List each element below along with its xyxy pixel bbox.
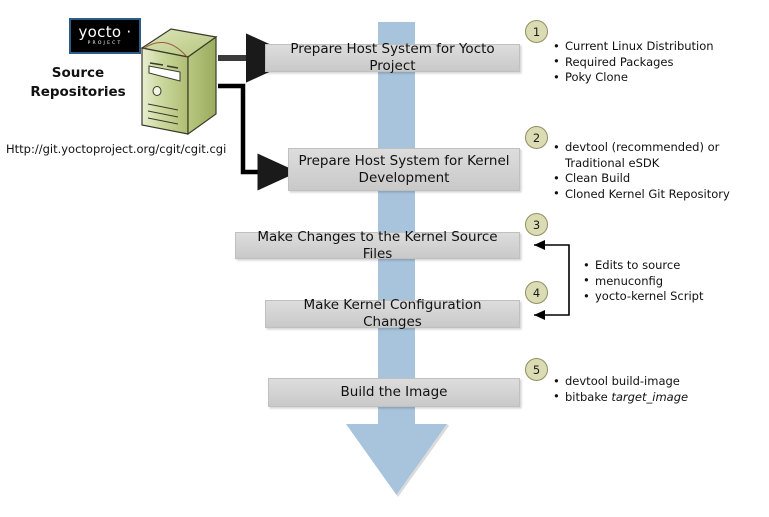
- box-prepare-host-system-kernel[interactable]: Prepare Host System for Kernel Developme…: [288, 148, 520, 191]
- connector-arrowhead-box4: [534, 310, 545, 320]
- yocto-logo-subtext: PROJECT: [88, 42, 123, 47]
- source-repositories-label: Source Repositories: [14, 64, 142, 102]
- source-label-line1: Source: [52, 65, 104, 81]
- note-item: Clean Build: [553, 171, 730, 187]
- notes-step-3-and-4: Edits to source menuconfig yocto-kernel …: [583, 258, 704, 305]
- step-number: 3: [533, 218, 540, 232]
- source-repository-url: Http://git.yoctoproject.org/cgit/cgit.cg…: [6, 142, 226, 156]
- note-item: Edits to source: [583, 258, 704, 274]
- box-label: Make Kernel Configuration Changes: [272, 297, 513, 331]
- flow-band-arrowhead: [346, 424, 447, 495]
- note-item: Current Linux Distribution: [553, 39, 714, 55]
- note-text: Current Linux Distribution: [565, 39, 714, 53]
- connector-notes-to-box3-box4: [534, 245, 569, 315]
- note-text-prefix: bitbake: [565, 390, 611, 404]
- note-text: Cloned Kernel Git Repository: [565, 187, 730, 201]
- connector-server-to-box2: [218, 86, 262, 172]
- note-item: devtool build-image: [553, 374, 688, 390]
- source-label-line2: Repositories: [30, 84, 125, 100]
- note-item: devtool (recommended) or Traditional eSD…: [553, 140, 730, 171]
- flow-band-arrowhead-shadow: [397, 424, 450, 497]
- box-label-multiline: Prepare Host System for Kernel Developme…: [298, 153, 509, 187]
- notes-step-2: devtool (recommended) or Traditional eSD…: [553, 140, 730, 202]
- note-item: bitbake target_image: [553, 390, 688, 406]
- step-badge-3: 3: [525, 213, 548, 236]
- box-make-changes-kernel-source[interactable]: Make Changes to the Kernel Source Files: [235, 232, 520, 259]
- note-text: Clean Build: [565, 171, 630, 185]
- box-label-line2: Development: [359, 170, 450, 186]
- yocto-project-logo: yocto · PROJECT: [69, 18, 141, 54]
- note-item: yocto-kernel Script: [583, 289, 704, 305]
- note-text-italic: target_image: [611, 390, 688, 404]
- note-text: devtool build-image: [565, 374, 680, 388]
- yocto-logo-wordmark: yocto ·: [79, 25, 132, 40]
- connector-arrowhead-box3: [534, 240, 545, 250]
- box-prepare-host-system-yocto[interactable]: Prepare Host System for Yocto Project: [265, 44, 520, 72]
- yocto-kernel-workflow-diagram: yocto · PROJECT Source Repositories Http…: [0, 0, 769, 517]
- step-badge-4: 4: [525, 281, 548, 304]
- note-text: menuconfig: [595, 274, 663, 288]
- box-label: Make Changes to the Kernel Source Files: [242, 229, 513, 263]
- flow-band-spine: [378, 22, 415, 425]
- box-make-kernel-configuration-changes[interactable]: Make Kernel Configuration Changes: [265, 300, 520, 328]
- step-number: 5: [533, 363, 540, 377]
- note-text-line2: Traditional eSDK: [565, 156, 730, 172]
- notes-step-1: Current Linux Distribution Required Pack…: [553, 39, 714, 86]
- step-badge-5: 5: [525, 358, 548, 381]
- note-text: Edits to source: [595, 258, 680, 272]
- note-item: Required Packages: [553, 55, 714, 71]
- note-text: Required Packages: [565, 55, 674, 69]
- note-item: Cloned Kernel Git Repository: [553, 187, 730, 203]
- note-text: yocto-kernel Script: [595, 289, 704, 303]
- box-build-the-image[interactable]: Build the Image: [268, 378, 520, 407]
- note-text-line1: devtool (recommended) or: [565, 140, 730, 156]
- box-label: Build the Image: [341, 384, 448, 401]
- notes-step-5: devtool build-image bitbake target_image: [553, 374, 688, 405]
- server-tower-icon: [136, 26, 222, 138]
- box-label: Prepare Host System for Yocto Project: [272, 41, 513, 75]
- step-badge-1: 1: [525, 20, 548, 43]
- step-number: 2: [533, 131, 540, 145]
- note-text: Poky Clone: [565, 70, 628, 84]
- step-number: 1: [533, 25, 540, 39]
- note-item: menuconfig: [583, 274, 704, 290]
- step-badge-2: 2: [525, 126, 548, 149]
- box-label-line1: Prepare Host System for Kernel: [298, 153, 509, 169]
- note-item: Poky Clone: [553, 70, 714, 86]
- step-number: 4: [533, 286, 540, 300]
